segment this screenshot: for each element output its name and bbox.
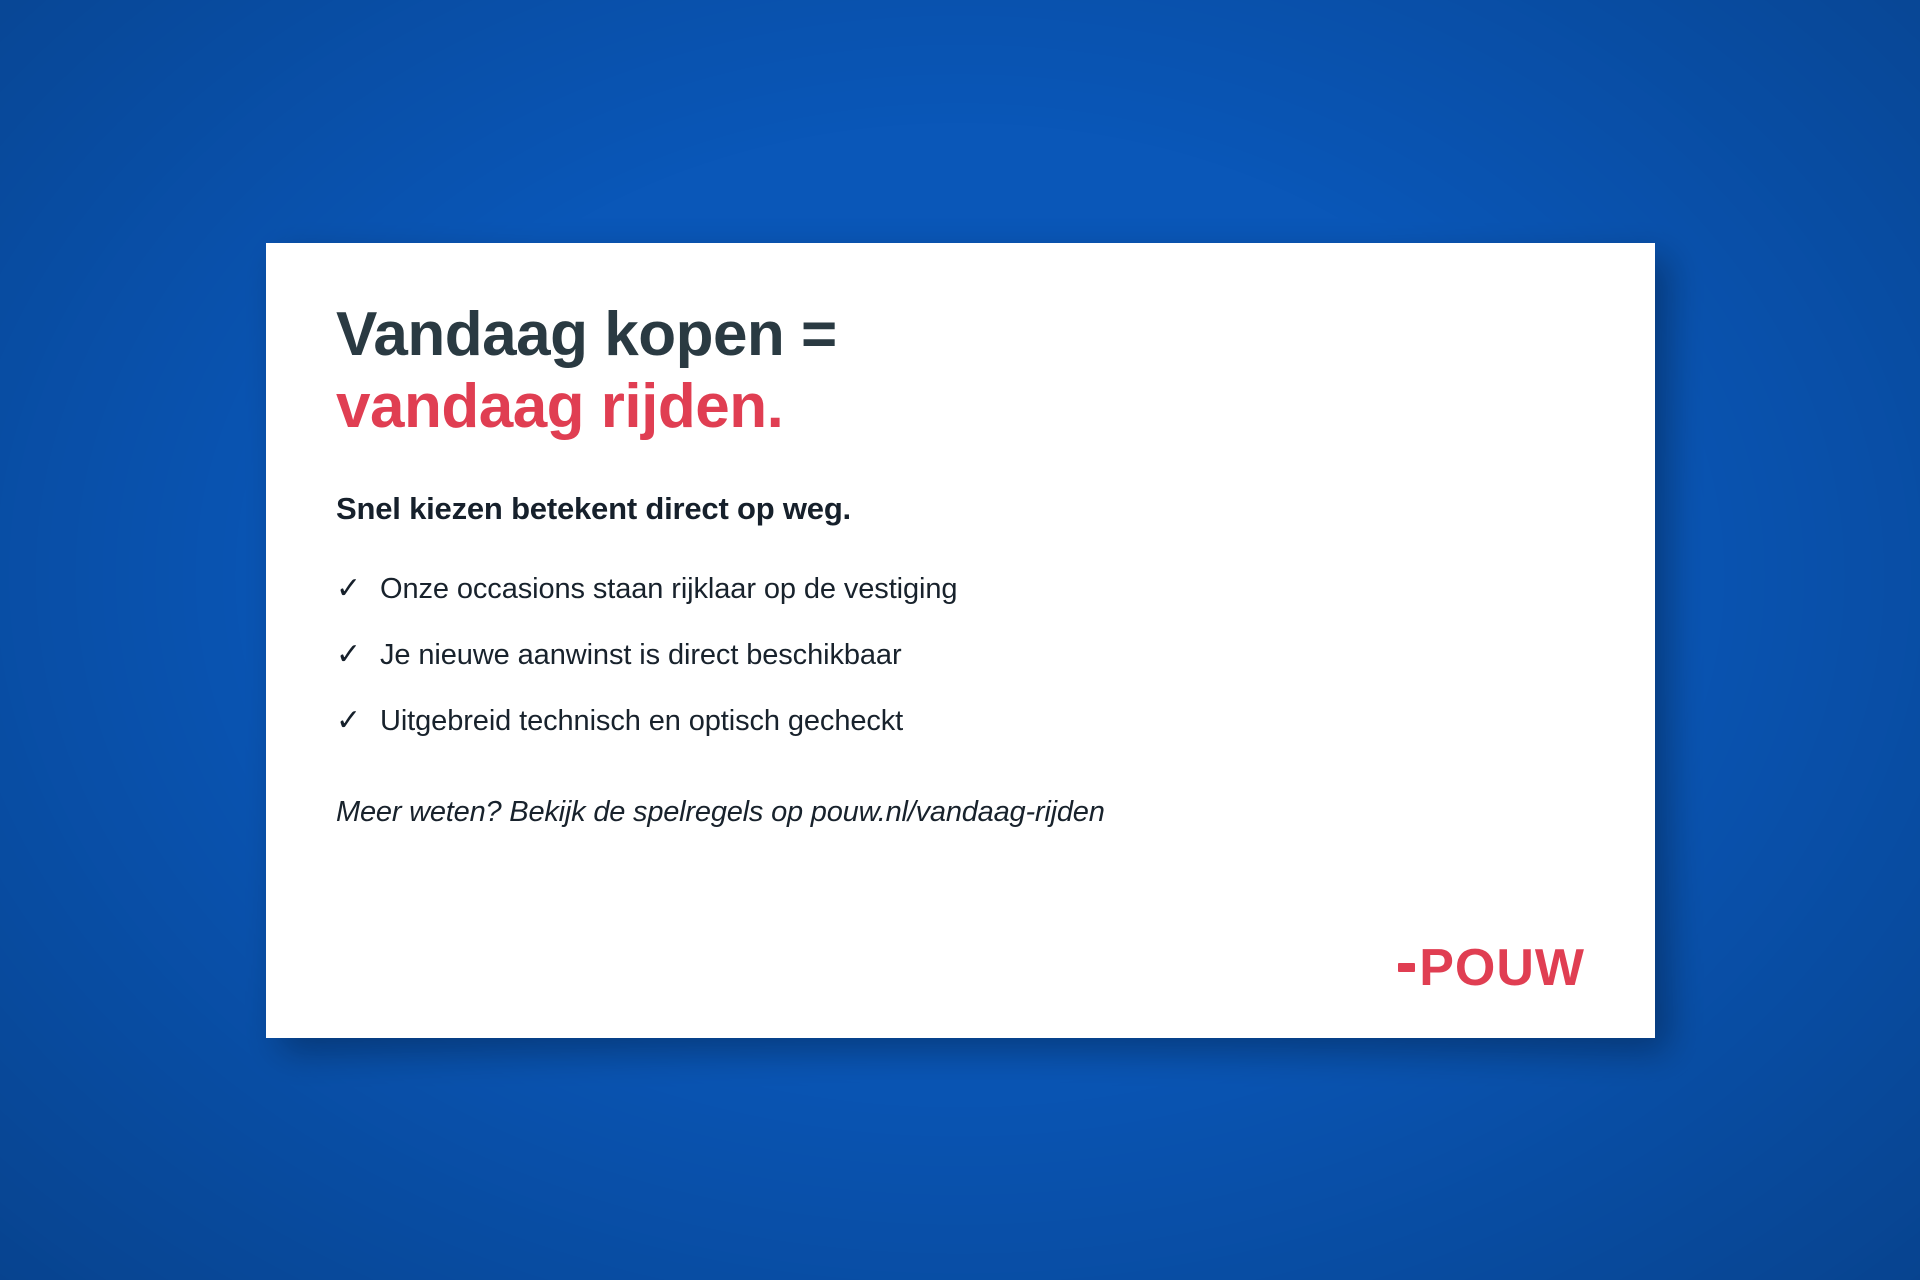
headline-line-1: Vandaag kopen = bbox=[336, 299, 1583, 371]
list-item-label: Uitgebreid technisch en optisch gecheckt bbox=[380, 705, 903, 738]
check-icon: ✓ bbox=[336, 574, 380, 604]
benefit-list: ✓ Onze occasions staan rijklaar op de ve… bbox=[336, 573, 1583, 738]
promo-card: Vandaag kopen = vandaag rijden. Snel kie… bbox=[266, 243, 1655, 1038]
list-item: ✓ Uitgebreid technisch en optisch gechec… bbox=[336, 705, 1583, 738]
list-item: ✓ Je nieuwe aanwinst is direct beschikba… bbox=[336, 639, 1583, 672]
check-icon: ✓ bbox=[336, 640, 380, 670]
logo-wordmark: POUW bbox=[1419, 942, 1585, 994]
check-icon: ✓ bbox=[336, 706, 380, 736]
list-item-label: Onze occasions staan rijklaar op de vest… bbox=[380, 573, 957, 606]
subheadline: Snel kiezen betekent direct op weg. bbox=[336, 491, 1583, 527]
list-item-label: Je nieuwe aanwinst is direct beschikbaar bbox=[380, 639, 902, 672]
logo-dot-icon bbox=[1398, 963, 1415, 972]
headline-line-2: vandaag rijden. bbox=[336, 371, 1583, 443]
list-item: ✓ Onze occasions staan rijklaar op de ve… bbox=[336, 573, 1583, 606]
pouw-logo[interactable]: POUW bbox=[1398, 942, 1585, 994]
page-title: Vandaag kopen = vandaag rijden. bbox=[336, 299, 1583, 443]
more-info-note[interactable]: Meer weten? Bekijk de spelregels op pouw… bbox=[336, 796, 1583, 829]
promo-banner: Vandaag kopen = vandaag rijden. Snel kie… bbox=[0, 0, 1920, 1280]
